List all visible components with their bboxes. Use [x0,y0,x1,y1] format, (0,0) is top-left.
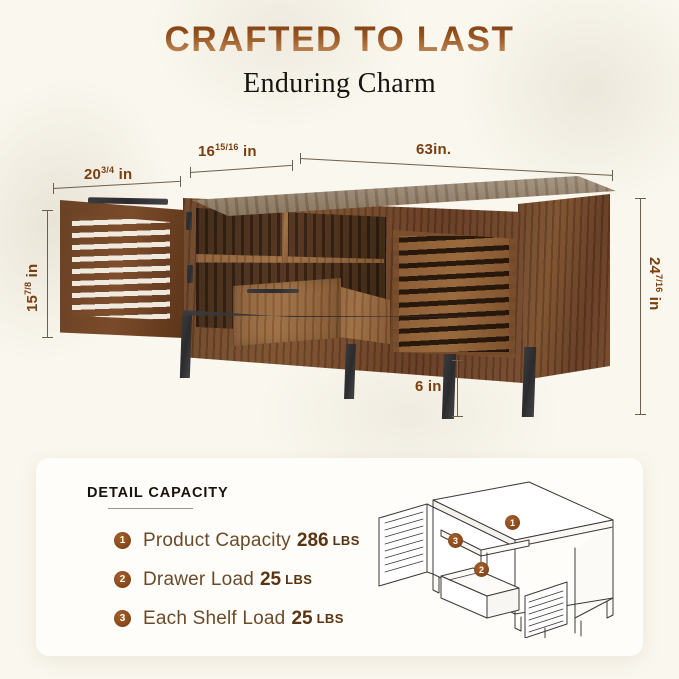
dimension-label-depth: 1615/16 in [198,142,257,160]
leg-front-left [180,312,192,378]
badge-3: 3 [114,610,131,627]
list-item: 3 Each Shelf Load 25 LBS [114,599,360,638]
capacity-label: Each Shelf Load [143,608,285,630]
dimline-total-height [640,198,641,414]
dimtick [452,360,463,361]
dimtick [635,198,646,199]
page-subtitle: Enduring Charm [0,68,679,100]
diagram-badge-3: 3 [448,533,463,548]
badge-2: 2 [114,571,131,588]
capacity-wireframe-diagram: 1 3 2 [369,478,621,638]
diagram-badge-2: 2 [474,562,489,577]
left-door-louver-panel [72,214,170,320]
leg-back-right [522,347,536,417]
badge-1: 1 [114,532,131,549]
sideboard-wireframe-svg [369,478,621,638]
dimension-label-width: 63in. [416,141,451,158]
dimtick [53,183,54,194]
capacity-list: 1 Product Capacity 286 LBS 2 Drawer Load… [114,521,360,638]
dimension-label-door-height: 157/8 in [23,264,41,312]
dimension-label-leg-height: 6 in [415,378,442,395]
diagram-badge-1: 1 [505,515,520,530]
dimline-depth [190,165,292,173]
dimtick [190,167,191,178]
capacity-value: 286 [297,530,329,552]
dimline-door-height [47,210,48,337]
door-hinge-lower [187,265,193,283]
dimtick [612,170,613,181]
capacity-value: 25 [291,608,312,630]
capacity-unit: LBS [333,533,360,548]
card-title-underline [108,508,193,509]
list-item: 1 Product Capacity 286 LBS [114,521,360,560]
list-item: 2 Drawer Load 25 LBS [114,560,360,599]
cabinet-right-louvered-door [393,230,515,358]
detail-capacity-card: DETAIL CAPACITY 1 Product Capacity 286 L… [36,458,643,656]
header: CRAFTED TO LAST Enduring Charm [0,22,679,100]
dimtick [300,153,301,164]
dimtick [292,160,293,171]
dimension-label-door-width: 203/4 in [84,165,132,183]
dimtick [635,414,646,415]
page-title: CRAFTED TO LAST [0,22,679,59]
dimtick [42,210,53,211]
dimtick [452,416,463,417]
dimline-leg-height [457,360,458,416]
card-title: DETAIL CAPACITY [87,485,229,501]
dimension-label-total-height: 247/16 in [646,257,664,311]
cabinet-divider [282,204,288,262]
capacity-label: Product Capacity [143,530,291,552]
capacity-unit: LBS [285,572,312,587]
capacity-value: 25 [260,569,281,591]
capacity-unit: LBS [317,611,344,626]
product-diagram: 203/4 in 1615/16 in 63in. 157/8 in 247/1… [0,132,679,442]
door-hinge-upper [186,212,192,230]
drawer-handle [247,289,299,293]
leg-front-right [442,354,456,419]
dimtick [42,337,53,338]
capacity-label: Drawer Load [143,569,254,591]
dimline-width [300,158,613,176]
leg-center [344,344,356,399]
dimtick [180,176,181,187]
